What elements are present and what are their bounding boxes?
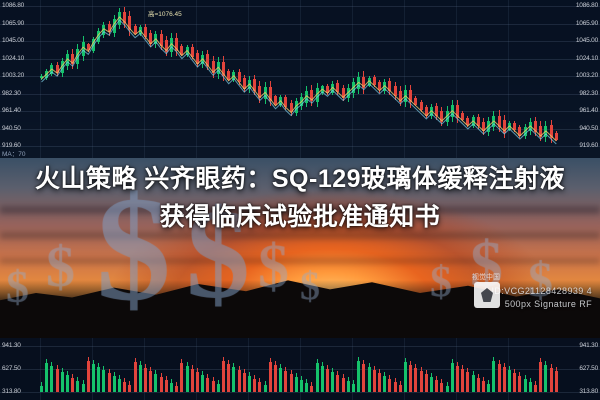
watermark-id: ID:VCG21128428939 4 — [491, 286, 592, 296]
axis-tick-label: 919.60 — [579, 142, 598, 149]
axis-tick-label: 1003.20 — [576, 72, 598, 79]
axis-tick-label: 1086.80 — [576, 2, 598, 9]
headline: 火山策略 兴齐眼药：SQ-129玻璃体缓释注射液 获得临床试验批准通知书 — [0, 160, 600, 236]
chart-top: 1086.801065.901045.001024.101003.20982.3… — [0, 0, 600, 158]
brand-logo-icon — [474, 282, 500, 308]
axis-tick-label: 1045.00 — [2, 37, 24, 44]
cloud-band — [0, 258, 600, 264]
axis-tick-label: 627.50 — [2, 365, 21, 372]
chart-top-moving-average — [0, 0, 600, 158]
axis-tick-label: 1003.20 — [2, 72, 24, 79]
axis-tick-label: 313.80 — [2, 388, 21, 395]
axis-tick-label: 940.50 — [2, 125, 21, 132]
axis-tick-label: 1086.80 — [2, 2, 24, 9]
axis-tick-label: 1065.90 — [576, 20, 598, 27]
headline-line-1: 火山策略 兴齐眼药：SQ-129玻璃体缓释注射液 — [0, 160, 600, 198]
axis-tick-label: 941.30 — [2, 342, 21, 349]
watermark-brand-label: 视觉中国 — [472, 272, 500, 282]
axis-tick-label: 627.50 — [579, 365, 598, 372]
axis-tick-label: 313.80 — [579, 388, 598, 395]
axis-tick-label: 1024.10 — [2, 55, 24, 62]
axis-tick-label: 940.50 — [579, 125, 598, 132]
screenshot-root: $ $ $ $ $ $ $ $ $ 1086.801065.901045.001… — [0, 0, 600, 400]
axis-tick-label: 941.30 — [579, 342, 598, 349]
axis-tick-label: 1045.00 — [576, 37, 598, 44]
headline-line-2: 获得临床试验批准通知书 — [0, 198, 600, 236]
chart-peak-annotation: 高=1076.45 — [148, 8, 182, 18]
watermark-signature: 500px Signature RF — [505, 299, 592, 309]
axis-tick-label: 1065.90 — [2, 20, 24, 27]
axis-tick-label: 1024.10 — [576, 55, 598, 62]
watermark-brand-badge: 视觉中国 — [474, 282, 504, 312]
axis-tick-label: 982.30 — [579, 90, 598, 97]
chart-ma-label: MA：70 — [2, 148, 25, 158]
axis-tick-label: 961.40 — [2, 107, 21, 114]
chart-bottom: 941.30627.50313.80 941.30627.50313.80 — [0, 338, 600, 400]
axis-tick-label: 982.30 — [2, 90, 21, 97]
axis-tick-label: 961.40 — [579, 107, 598, 114]
